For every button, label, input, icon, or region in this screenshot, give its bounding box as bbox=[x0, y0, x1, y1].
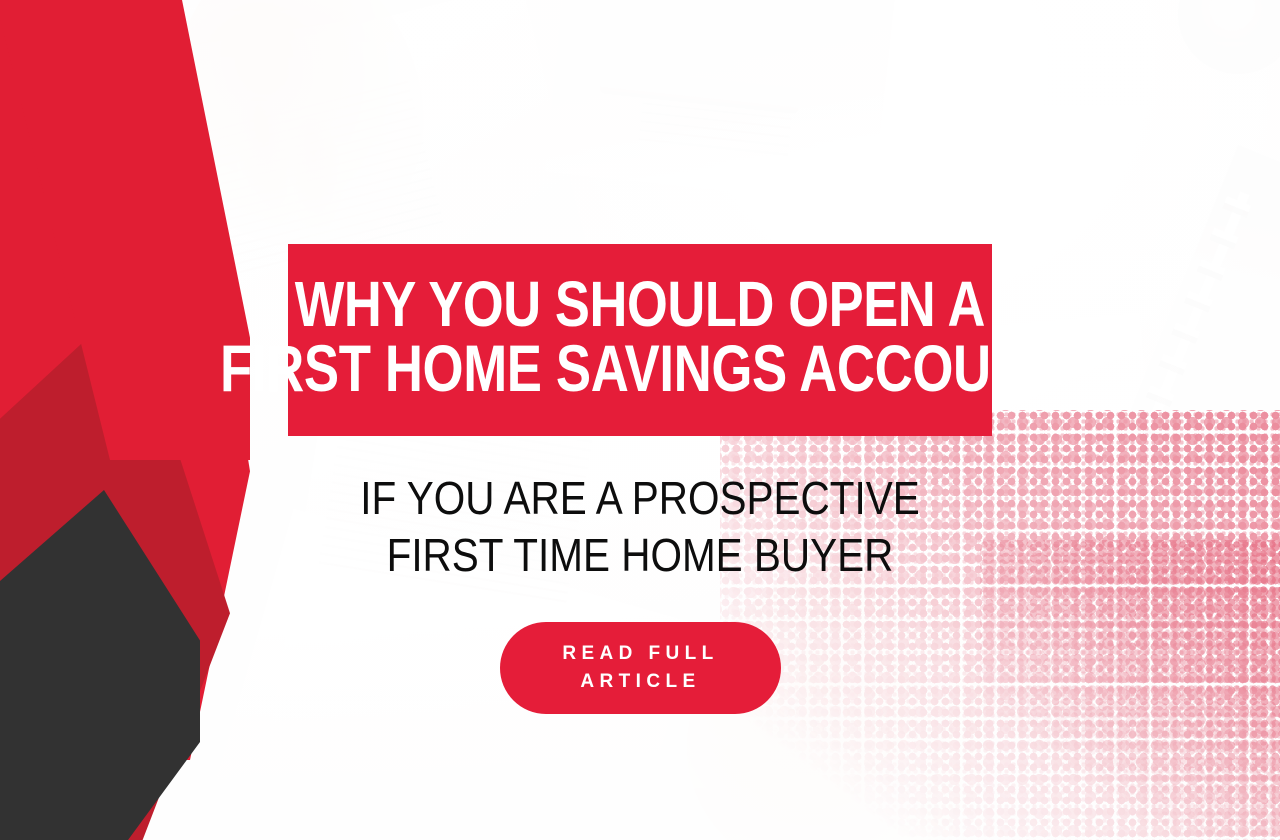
promo-banner: WHY YOU SHOULD OPEN A FIRST HOME SAVINGS… bbox=[0, 0, 1280, 840]
headline-block: WHY YOU SHOULD OPEN A FIRST HOME SAVINGS… bbox=[288, 244, 992, 436]
subheadline: IF YOU ARE A PROSPECTIVE FIRST TIME HOME… bbox=[332, 470, 948, 584]
headline-line-1: WHY YOU SHOULD OPEN A bbox=[295, 273, 985, 336]
read-full-article-button[interactable]: READ FULL ARTICLE bbox=[500, 622, 781, 714]
headline-line-2: FIRST HOME SAVINGS ACCOUNT bbox=[220, 336, 1060, 401]
banner-content: WHY YOU SHOULD OPEN A FIRST HOME SAVINGS… bbox=[0, 0, 1280, 840]
